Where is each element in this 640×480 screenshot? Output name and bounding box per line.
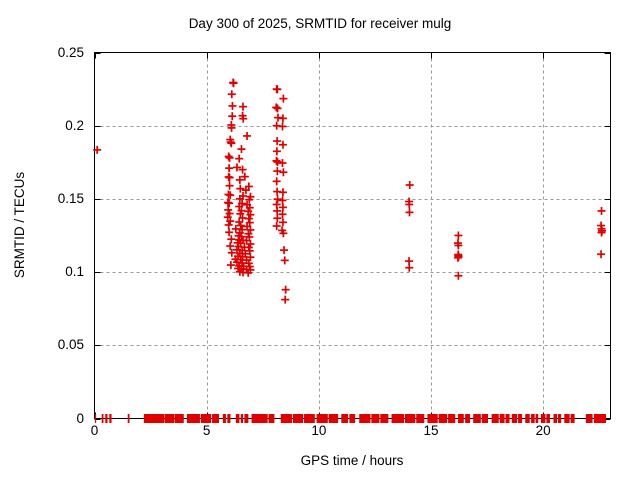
zero-value-band <box>95 414 606 423</box>
grid-lines <box>95 53 611 419</box>
data-point-marker <box>279 122 287 130</box>
data-point-marker <box>273 214 281 222</box>
data-point-marker <box>281 256 289 264</box>
data-point-marker <box>225 152 233 160</box>
plot-frame <box>95 53 611 419</box>
data-point-marker <box>225 199 233 207</box>
data-point-marker <box>273 177 281 185</box>
data-point-marker <box>454 232 462 240</box>
data-point-marker <box>279 95 287 103</box>
data-point-marker <box>274 195 282 203</box>
data-point-marker <box>224 206 232 214</box>
data-point-marker <box>227 235 235 243</box>
data-point-marker <box>280 246 288 254</box>
data-point-marker <box>282 286 290 294</box>
data-point-marker <box>272 103 280 111</box>
data-point-marker <box>279 168 287 176</box>
data-point-marker <box>230 79 238 87</box>
data-point-marker <box>226 154 234 162</box>
data-point-marker <box>273 147 281 155</box>
data-point-marker <box>405 264 413 272</box>
data-point-marker <box>281 296 289 304</box>
data-point-marker <box>279 188 287 196</box>
data-point-marker <box>274 104 282 112</box>
data-point-marker <box>597 250 605 258</box>
data-point-marker <box>226 174 234 182</box>
data-point-marker <box>279 141 287 149</box>
data-point-marker <box>226 182 234 190</box>
data-point-marker <box>598 207 606 215</box>
data-point-marker <box>243 132 251 140</box>
data-point-marker <box>225 221 233 229</box>
data-point-marker <box>226 210 234 218</box>
data-point-marker <box>235 155 243 163</box>
data-point-marker <box>406 181 414 189</box>
data-point-marker <box>228 90 236 98</box>
data-point-marker <box>226 191 234 199</box>
data-point-marker <box>228 102 236 110</box>
data-point-marker <box>236 185 244 193</box>
data-point-marker <box>279 114 287 122</box>
data-point-marker <box>237 145 245 153</box>
data-point-marker <box>273 85 281 93</box>
data-point-marker <box>405 208 413 216</box>
data-point-marker <box>273 137 281 145</box>
data-point-marker <box>228 112 236 120</box>
data-point-marker <box>245 215 253 223</box>
chart-container: Day 300 of 2025, SRMTID for receiver mul… <box>0 0 640 480</box>
data-point-marker <box>279 196 287 204</box>
data-point-marker <box>227 139 235 147</box>
data-point-marker <box>273 167 281 175</box>
data-points <box>93 79 606 304</box>
data-point-marker <box>225 164 233 172</box>
data-point-marker <box>226 242 234 250</box>
data-point-marker <box>279 218 287 226</box>
data-point-marker <box>598 229 606 237</box>
data-point-marker <box>239 103 247 111</box>
data-point-marker <box>274 158 282 166</box>
data-point-marker <box>273 222 281 230</box>
plot-area <box>0 0 640 480</box>
axis-ticks <box>95 53 611 420</box>
